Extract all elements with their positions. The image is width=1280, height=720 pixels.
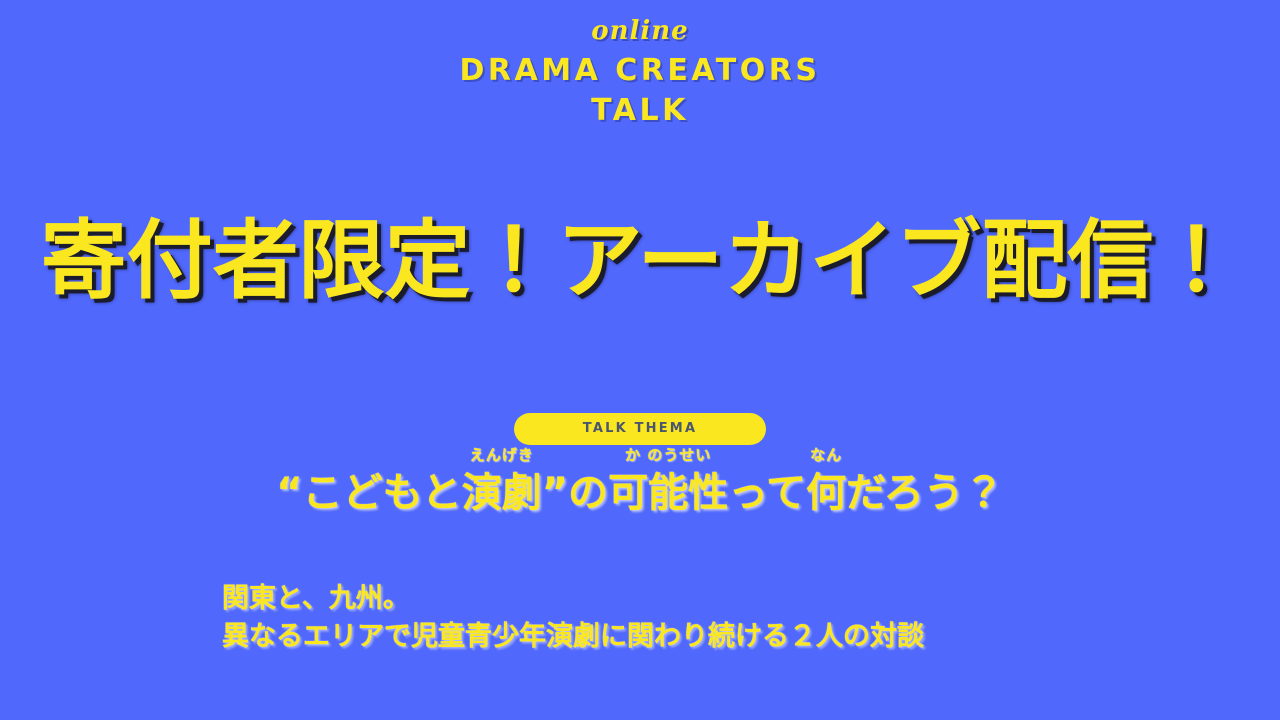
description-line-2: 異なるエリアで児童青少年演劇に関わり続ける２人の対談 [222,618,924,656]
theme-close-quote: ” [542,470,568,516]
slide-canvas: online DRAMA CREATORS TALK 寄付者限定！アーカイブ配信… [0,0,1280,720]
ruby-group-engeki: えんげき演劇 [462,470,542,516]
theme-open-quote: “ [276,470,302,516]
ruby-group-nan: なん何 [806,470,846,516]
description-line-1: 関東と、九州。 [222,580,924,618]
theme-to: と [422,470,462,516]
ruby-group-kanousei: か のうせい可能性 [608,470,728,516]
theme-tte: って [728,470,806,516]
theme-kodomo: こども [303,470,422,516]
furigana-kanousei: か のうせい [625,448,711,463]
kanji-kanousei: 可能性 [608,470,728,516]
kanji-nan: 何 [806,470,846,516]
kanji-engeki: 演劇 [462,470,542,516]
brand-title-line2: TALK [0,96,1280,130]
theme-no: の [568,470,608,516]
brand-online-script: online [0,18,1280,48]
talk-thema-pill-row: TALK THEMA [0,413,1280,447]
talk-thema-badge: TALK THEMA [514,413,766,445]
furigana-nan: なん [810,448,842,463]
brand-logo-block: online DRAMA CREATORS TALK [0,18,1280,130]
description-block: 関東と、九州。 異なるエリアで児童青少年演劇に関わり続ける２人の対談 [222,580,924,656]
headline-text: 寄付者限定！アーカイブ配信！ [0,206,1280,316]
theme-question-line: “こどもとえんげき演劇”のか のうせい可能性ってなん何だろう？ [0,470,1280,516]
furigana-engeki: えんげき [470,448,534,463]
theme-darou: だろう？ [846,470,1004,516]
brand-title-line1: DRAMA CREATORS [0,56,1280,90]
